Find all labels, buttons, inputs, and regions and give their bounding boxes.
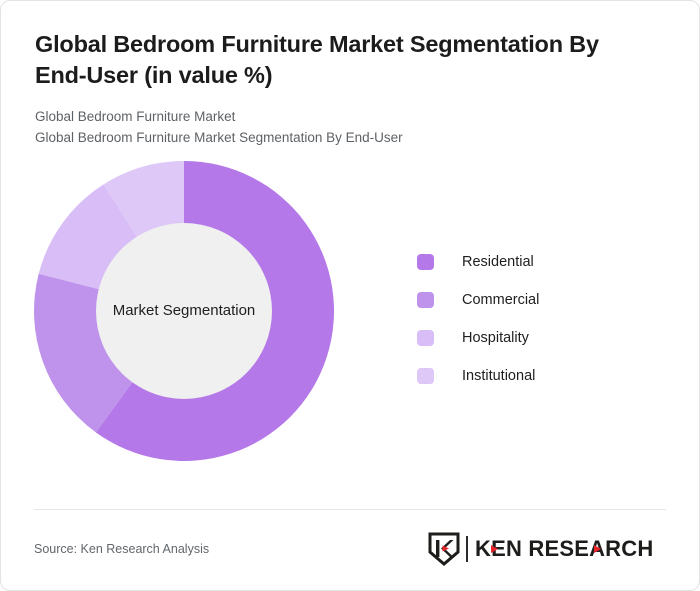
subtitle-group: Global Bedroom Furniture Market Global B… [35,107,665,149]
legend-item-residential[interactable]: Residential [417,243,539,281]
source-note: Source: Ken Research Analysis [34,542,209,556]
subtitle-segmentation: Global Bedroom Furniture Market Segmenta… [35,128,665,149]
legend-label-commercial: Commercial [462,292,539,308]
legend-item-hospitality[interactable]: Hospitality [417,319,539,357]
legend-label-residential: Residential [462,254,534,270]
chart-header: Global Bedroom Furniture Market Segmenta… [1,1,699,149]
legend-swatch-icon-hospitality [417,330,434,346]
subtitle-market: Global Bedroom Furniture Market [35,107,665,128]
ken-research-wordmark: KEN RESEARCH [475,536,671,562]
chart-footer: Source: Ken Research Analysis KEN RESEAR… [34,529,671,569]
chart-area: Market Segmentation Residential Commerci… [1,161,699,491]
legend-label-hospitality: Hospitality [462,330,529,346]
legend-item-commercial[interactable]: Commercial [417,281,539,319]
ken-research-shield-icon [428,532,460,566]
legend-swatch-icon-residential [417,254,434,270]
page-title: Global Bedroom Furniture Market Segmenta… [35,29,650,91]
donut-chart: Market Segmentation [34,161,334,461]
donut-svg [34,161,334,461]
brand-logo: KEN RESEARCH [428,532,671,566]
footer-divider [34,509,666,510]
chart-legend: Residential Commercial Hospitality Insti… [417,243,539,395]
brand-name-text: KEN RESEARCH [475,536,653,561]
legend-label-institutional: Institutional [462,368,535,384]
legend-swatch-icon-commercial [417,292,434,308]
chart-card: Global Bedroom Furniture Market Segmenta… [0,0,700,591]
brand-divider [466,536,468,562]
legend-item-institutional[interactable]: Institutional [417,357,539,395]
donut-hole [96,223,272,399]
legend-swatch-icon-institutional [417,368,434,384]
